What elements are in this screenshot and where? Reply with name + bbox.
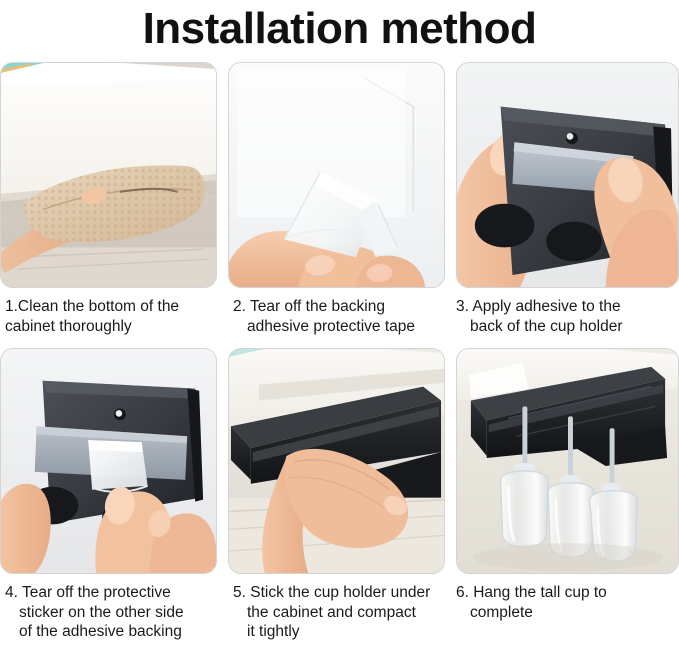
page-title: Installation method — [0, 0, 679, 58]
steps-grid: 1.Clean the bottom of the cabinet thorou… — [0, 62, 679, 642]
step-2-caption: 2. Tear off the backing adhesive protect… — [228, 297, 445, 336]
step-4-tear-protective-sticker-photo — [0, 348, 217, 574]
step-6-hang-glasses-photo — [456, 348, 679, 574]
step-card-3: 3. Apply adhesive to the back of the cup… — [456, 62, 679, 336]
step-1-caption: 1.Clean the bottom of the cabinet thorou… — [0, 297, 217, 336]
step-card-6: 6. Hang the tall cup to complete — [456, 348, 679, 642]
step-1-clean-cabinet-photo — [0, 62, 217, 288]
step-card-2: 2. Tear off the backing adhesive protect… — [228, 62, 445, 336]
step-3-illustration — [457, 63, 678, 287]
step-4-illustration — [1, 349, 216, 573]
step-5-illustration — [229, 349, 444, 573]
step-3-apply-adhesive-photo — [456, 62, 679, 288]
step-5-stick-holder-photo — [228, 348, 445, 574]
step-card-1: 1.Clean the bottom of the cabinet thorou… — [0, 62, 217, 336]
step-card-4: 4. Tear off the protective sticker on th… — [0, 348, 217, 642]
step-6-illustration — [457, 349, 678, 573]
step-5-caption: 5. Stick the cup holder under the cabine… — [228, 583, 445, 642]
installation-method-infographic: Installation method — [0, 0, 679, 662]
step-2-tear-backing-tape-photo — [228, 62, 445, 288]
step-3-caption: 3. Apply adhesive to the back of the cup… — [456, 297, 679, 336]
step-2-illustration — [229, 63, 444, 287]
step-1-illustration — [1, 63, 216, 287]
step-card-5: 5. Stick the cup holder under the cabine… — [228, 348, 445, 642]
step-6-caption: 6. Hang the tall cup to complete — [456, 583, 679, 622]
step-4-caption: 4. Tear off the protective sticker on th… — [0, 583, 217, 642]
